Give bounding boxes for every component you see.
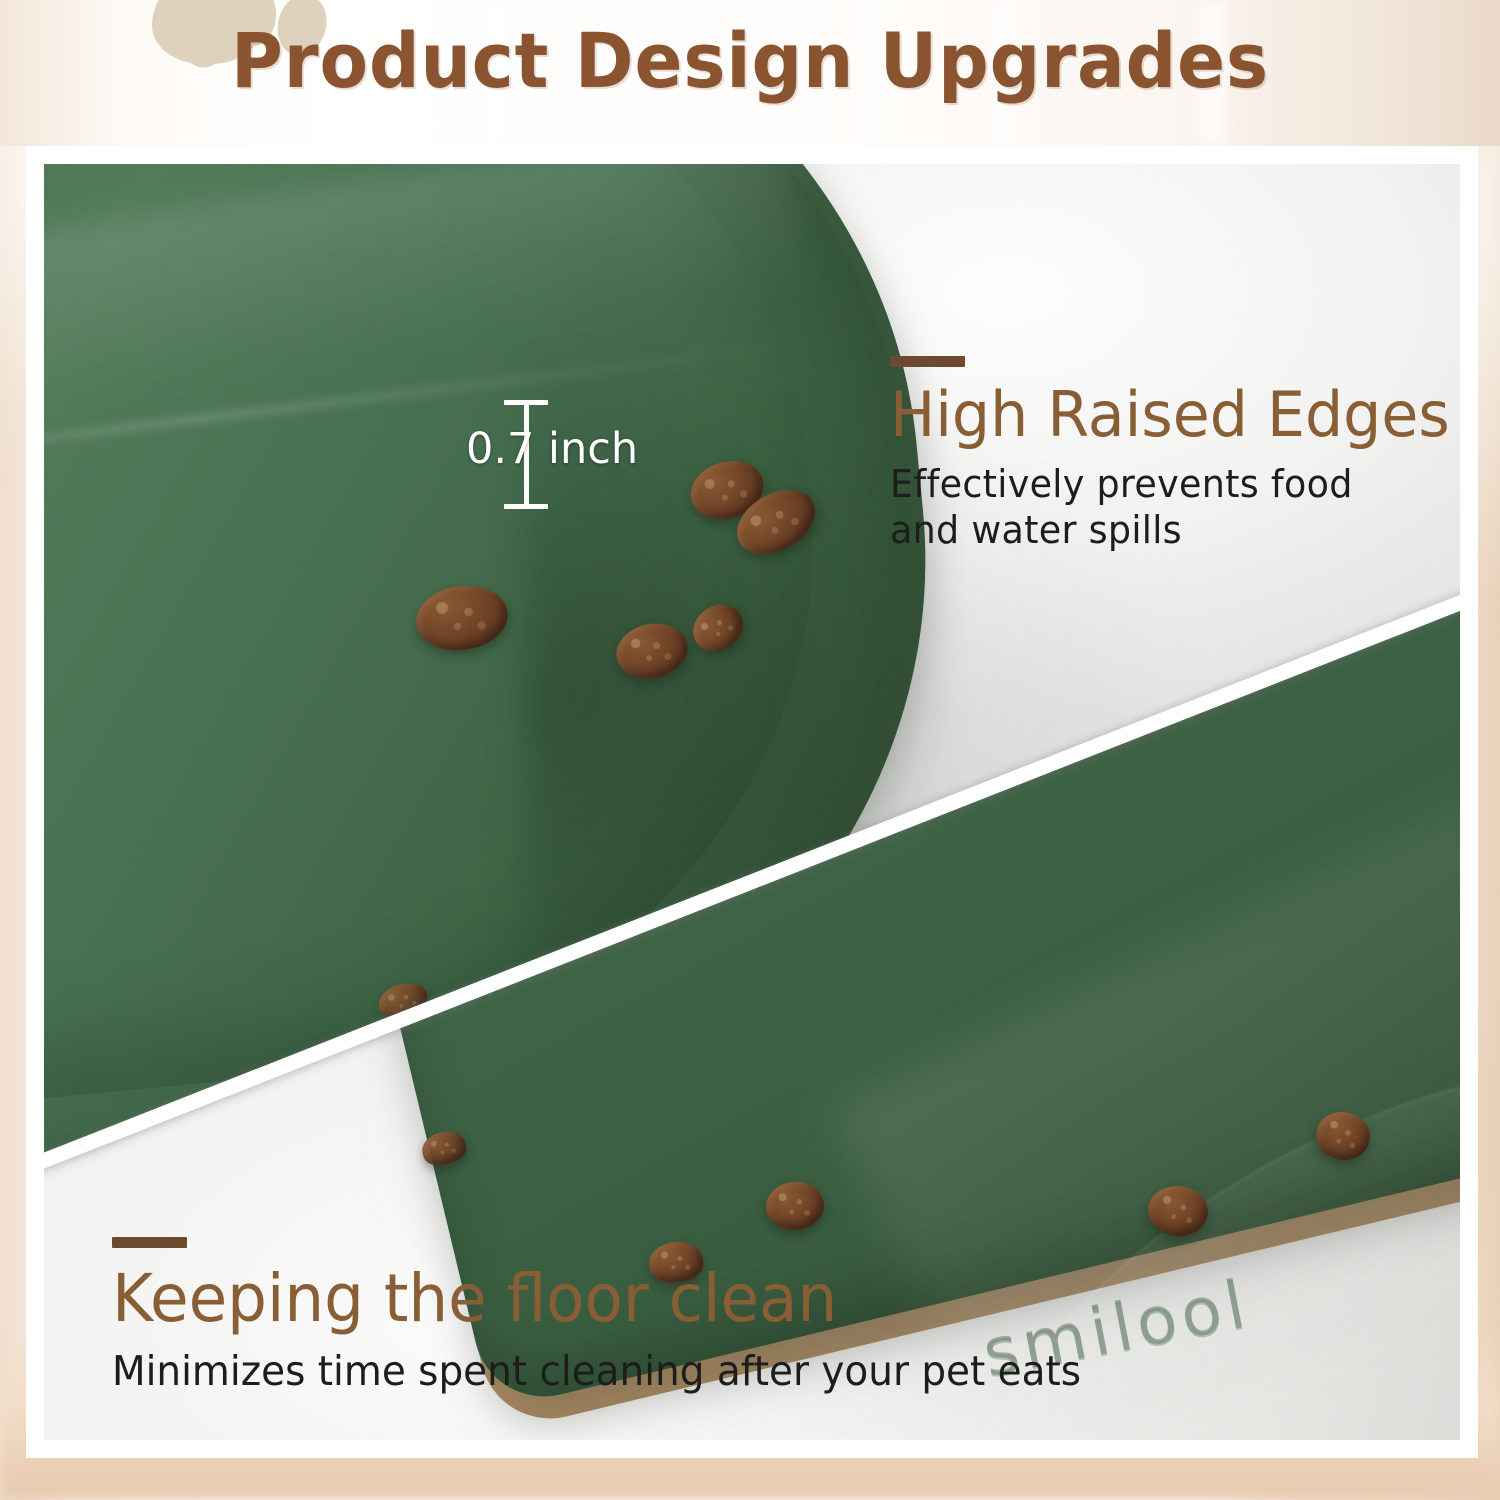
callout-subtext: Minimizes time spent cleaning after your… xyxy=(112,1346,1233,1396)
callout-keeping-floor-clean: Keeping the floor clean Minimizes time s… xyxy=(112,1237,1292,1396)
callout-subtext-line2: and water spills xyxy=(890,507,1460,553)
product-infographic: Product Design Upgrades xyxy=(0,0,1500,1500)
callout-headline: High Raised Edges xyxy=(890,381,1460,449)
callout-headline: Keeping the floor clean xyxy=(112,1262,1233,1336)
dimension-label: 0.7 inch xyxy=(466,428,638,471)
dimension-cap-bottom xyxy=(504,504,548,509)
header-banner: Product Design Upgrades xyxy=(0,0,1500,146)
dimension-callout: 0.7 inch xyxy=(496,392,676,520)
callout-subtext: Effectively prevents food and water spil… xyxy=(890,461,1460,553)
photo-inner: 0.7 inch smilool xyxy=(44,164,1460,1440)
callout-subtext-line1: Effectively prevents food xyxy=(890,461,1460,507)
page-title: Product Design Upgrades xyxy=(53,16,1448,105)
callout-rule xyxy=(890,356,965,367)
photo-frame: 0.7 inch smilool xyxy=(26,146,1478,1458)
callout-rule xyxy=(112,1237,187,1248)
callout-high-raised-edges: High Raised Edges Effectively prevents f… xyxy=(890,356,1460,553)
